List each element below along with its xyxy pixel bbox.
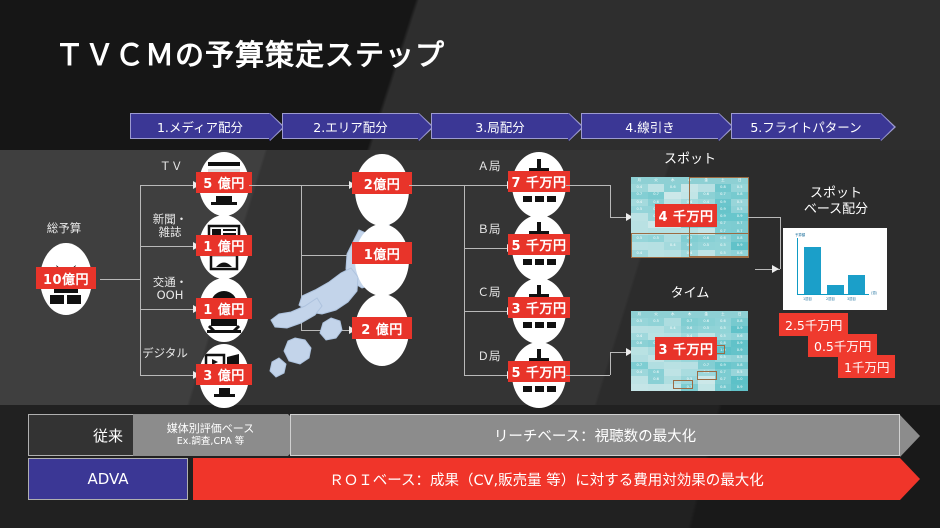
page-title: ＴＶＣＭの予算策定ステップ [55,32,445,74]
heatmap-cell [631,326,648,333]
heatmap-cell [631,221,648,228]
heatmap-cell: 0.7 [648,192,665,199]
comparison-main-old: リーチベース：視聴数の最大化 [290,414,900,456]
heatmap-cell [681,362,698,369]
heatmap-cell: 0.5 [715,333,732,340]
flight-title: スポット ベース配分 [790,186,882,218]
heatmap-cell [648,362,665,369]
heatmap-cell: 0.5 [715,326,732,333]
connector-stations-out [566,185,610,186]
flight-bar-chart[interactable]: 予算額 (週) 1週目 2週目 3週目 [783,228,887,310]
heatmap-cell: 1.0 [731,376,748,383]
heatmap-cell: 0.9 [731,347,748,354]
media-digital-label: デジタル [136,347,194,360]
heatmap-cell [648,326,665,333]
heatmap-cell: 0.7 [631,362,648,369]
heatmap-cell [664,318,681,325]
heatmap-cell [681,369,698,376]
station-a-value: 7 千万円 [508,171,570,192]
heatmap-col-header: 火 [648,311,665,318]
step-1[interactable]: 1.メディア配分 [130,113,270,139]
time-grid-title: タイム [630,287,750,300]
chart-bar-3 [848,275,865,294]
heatmap-col-header: 水 [664,177,681,184]
heatmap-cell: 0.5 [698,326,715,333]
heatmap-cell [664,192,681,199]
connector-time-out [566,375,610,376]
step-2-label: 2.エリア配分 [313,117,387,136]
chart-x-axis-label: (週) [871,290,877,295]
station-d-label: Ｄ局 [468,350,510,363]
heatmap-cell: 0.8 [731,362,748,369]
area-value-1: 2億円 [352,172,412,194]
heatmap-col-header: 土 [715,311,732,318]
connector-total-trunk [100,279,140,280]
media-ooh-label: 交通・ OOH [146,276,194,302]
connector-media-ooh [140,309,195,310]
heatmap-cell: 0.4 [631,333,648,340]
heatmap-cell: 0.8 [715,384,732,391]
station-c-value: 3 千万円 [508,297,570,318]
heatmap-cell [631,376,648,383]
station-b-label: Ｂ局 [468,223,510,236]
flight-stack-2: 0.5千万円 [808,334,877,357]
connector-media-tv [140,185,195,186]
station-b-value: 5 千万円 [508,234,570,255]
comparison-main-new: ＲＯＩベース：成果（CV,販売量 等）に対する費用対効果の最大化 [193,458,900,500]
station-c-label: Ｃ局 [468,286,510,299]
connector-station-b [464,248,509,249]
heatmap-col-header: 月 [631,177,648,184]
heatmap-col-header: 水 [664,311,681,318]
flight-stack-1: 2.5千万円 [779,313,848,336]
comparison-tag-new: ADVA [28,458,188,500]
heatmap-cell [664,369,681,376]
spot-grid-title: スポット [630,153,750,166]
heatmap-cell [648,384,665,391]
heatmap-cell: 0.5 [631,318,648,325]
comparison-sub-line2: Ex.調査,CPA 等 [177,435,244,448]
connector-station-c [464,311,509,312]
spot-highlight-row [631,233,749,258]
connector-station-spine [464,185,465,375]
heatmap-cell: 0.5 [731,355,748,362]
total-budget-value: 10億円 [36,267,96,289]
comparison-sub-old: 媒体別評価ベース Ex.調査,CPA 等 [133,414,288,456]
comparison-sub-line1: 媒体別評価ベース [167,422,254,435]
connector-media-digital [140,375,195,376]
chart-tick-3: 3週目 [847,296,856,301]
heatmap-cell: 0.4 [631,199,648,206]
step-1-label: 1.メディア配分 [157,117,243,136]
spot-value: 4 千万円 [655,204,717,227]
heatmap-cell: 0.9 [731,384,748,391]
heatmap-cell [664,362,681,369]
heatmap-col-header: 火 [648,177,665,184]
heatmap-cell: 0.6 [715,318,732,325]
heatmap-cell: 0.7 [698,362,715,369]
connector-flight-drop [780,217,781,269]
chart-tick-1: 1週目 [803,296,812,301]
station-d-value: 5 千万円 [508,361,570,382]
step-4[interactable]: 4.線引き [581,113,719,139]
heatmap-cell [631,213,648,220]
heatmap-cell: 0.6 [631,340,648,347]
heatmap-col-header: 木 [681,311,698,318]
heatmap-cell: 0.5 [715,355,732,362]
heatmap-cell: 0.6 [664,184,681,191]
connector-station-a [464,185,509,186]
heatmap-cell: 0.7 [681,318,698,325]
media-digital-value: 3 億円 [196,364,252,385]
heatmap-cell: 0.5 [631,206,648,213]
chart-x-axis [797,294,869,295]
heatmap-cell: 0.4 [631,369,648,376]
step-2[interactable]: 2.エリア配分 [282,113,419,139]
heatmap-cell: 0.6 [681,326,698,333]
chart-y-axis [797,238,798,294]
media-tv-label: ＴＶ [148,160,194,173]
connector-flight-a [748,217,780,218]
time-highlight-2 [697,371,717,380]
step-3-label: 3.局配分 [475,117,524,136]
connector-time-rise [610,352,611,375]
chart-y-axis-label: 予算額 [795,232,805,237]
heatmap-cell: 0.7 [631,192,648,199]
time-highlight-3 [673,380,693,389]
media-ooh-value: 1 億円 [196,298,252,319]
heatmap-cell: 0.4 [631,184,648,191]
media-press-value: 1 億円 [196,235,252,256]
heatmap-cell [648,184,665,191]
station-a-label: Ａ局 [468,160,510,173]
media-tv-value: 5 億円 [196,172,252,193]
flight-stack-3: 1千万円 [838,355,895,378]
slide-canvas: ＴＶＣＭの予算策定ステップ 1.メディア配分 2.エリア配分 3.局配分 4.線… [0,0,940,528]
heatmap-cell: 0.7 [715,376,732,383]
heatmap-cell: 0.9 [715,362,732,369]
step-chevron-bar: 1.メディア配分 2.エリア配分 3.局配分 4.線引き 5.フライトパターン [130,113,881,139]
arrow-flight-in [772,265,779,273]
heatmap-cell [631,355,648,362]
heatmap-cell: 0.5 [648,318,665,325]
step-5[interactable]: 5.フライトパターン [731,113,881,139]
media-press-label: 新聞・ 雑誌 [146,213,194,239]
heatmap-cell: 0.6 [731,333,748,340]
time-value: 3 千万円 [655,337,717,360]
connector-station-d [464,375,509,376]
heatmap-cell: 0.6 [648,369,665,376]
connector-spot-drop [610,185,611,217]
heatmap-cell: 0.6 [698,318,715,325]
chart-bar-2 [827,285,844,294]
heatmap-cell: 0.6 [648,376,665,383]
chart-tick-2: 2週目 [826,296,835,301]
heatmap-cell [698,384,715,391]
step-3[interactable]: 3.局配分 [431,113,569,139]
heatmap-col-header: 月 [631,311,648,318]
connector-area-out [409,185,464,186]
heatmap-col-header: 金 [698,311,715,318]
area-value-2: 1億円 [352,242,412,264]
connector-media-press [140,246,195,247]
total-budget-label: 総予算 [28,222,100,235]
step-5-label: 5.フライトパターン [750,117,861,136]
heatmap-cell: 0.7 [715,369,732,376]
step-4-label: 4.線引き [625,117,674,136]
heatmap-cell: 0.9 [731,340,748,347]
heatmap-cell: 0.8 [731,318,748,325]
heatmap-cell [631,384,648,391]
area-value-3: 2 億円 [352,317,412,339]
chart-bar-1 [804,247,821,294]
heatmap-col-header: 日 [731,311,748,318]
heatmap-cell: 0.5 [731,369,748,376]
heatmap-cell: 0.9 [731,326,748,333]
heatmap-cell [631,347,648,354]
heatmap-cell: 0.4 [664,326,681,333]
